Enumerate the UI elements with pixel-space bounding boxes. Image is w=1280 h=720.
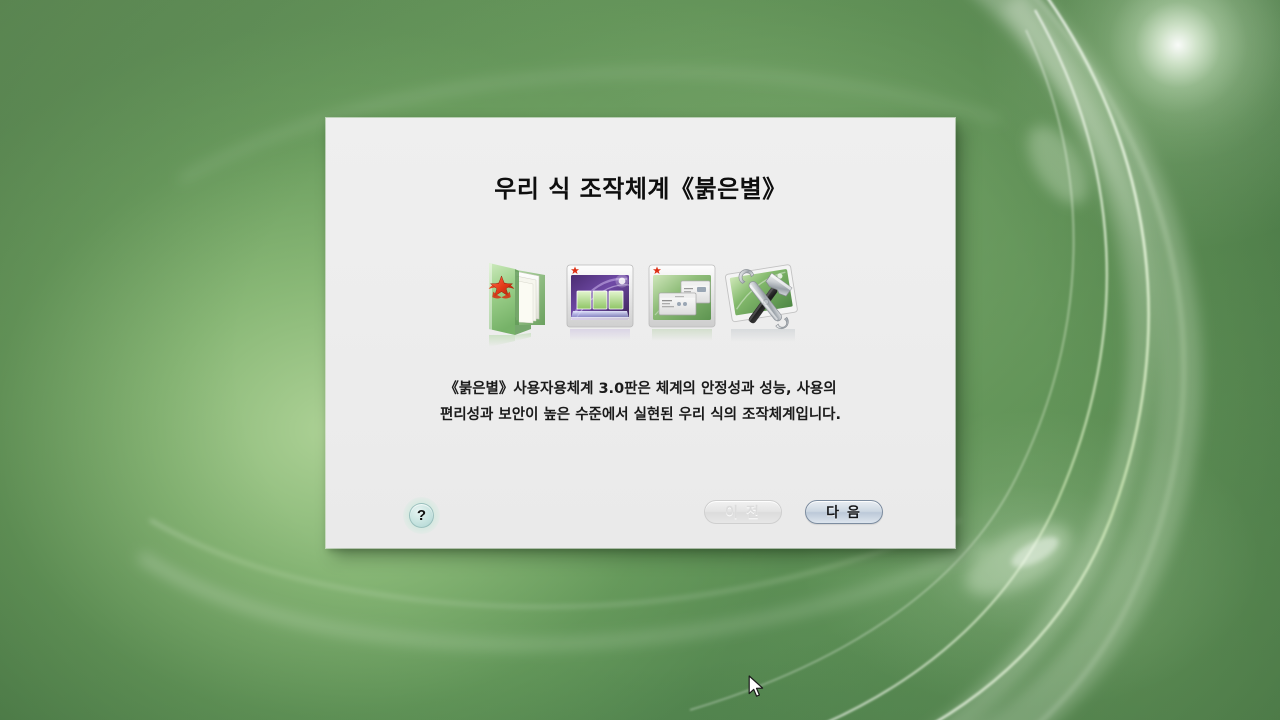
description-text: 《붉은별》사용자용체계 3.0판은 체계의 안정성과 성능, 사용의 편리성과 … — [386, 376, 895, 428]
description-line-2: 편리성과 보안이 높은 수준에서 실현된 우리 식의 조작체계입니다. — [386, 402, 895, 428]
installer-dialog: 우리 식 조작체계《붉은별》 — [326, 118, 955, 548]
description-line-1: 《붉은별》사용자용체계 3.0판은 체계의 안정성과 성능, 사용의 — [386, 376, 895, 402]
tools-hammer-wrench-icon — [725, 251, 803, 351]
next-button[interactable]: 다 음 — [805, 500, 883, 524]
page-title: 우리 식 조작체계《붉은별》 — [326, 169, 955, 204]
help-button[interactable]: ? — [407, 501, 436, 530]
previous-button[interactable]: 이 전 — [704, 500, 782, 524]
desktop-dialogs-icon — [643, 251, 721, 351]
question-mark-icon: ? — [409, 503, 434, 528]
folder-with-star-icon — [479, 251, 557, 351]
feature-icon-strip — [326, 246, 955, 351]
window-panels-icon — [561, 251, 639, 351]
desktop-background: 우리 식 조작체계《붉은별》 — [0, 0, 1280, 720]
